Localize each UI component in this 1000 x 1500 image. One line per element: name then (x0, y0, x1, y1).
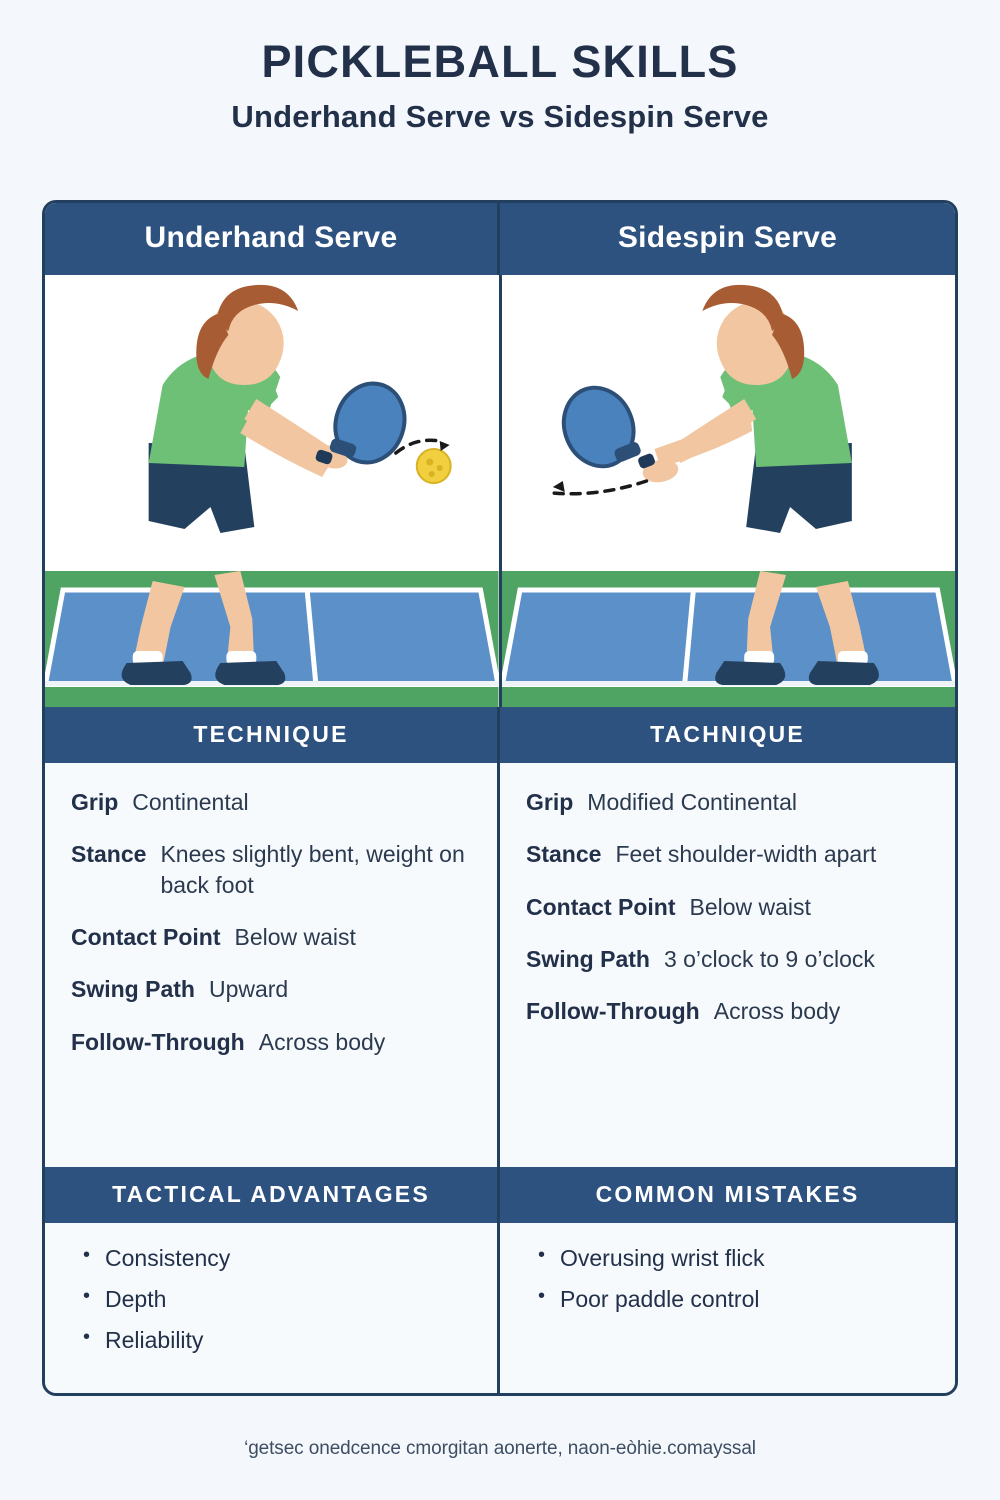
column-title-underhand: Underhand Serve (45, 203, 500, 275)
spec-row: Swing Path Upward (71, 974, 471, 1004)
spec-row: Stance Knees slightly bent, weight on ba… (71, 839, 471, 900)
technique-specs-row: Grip Continental Stance Knees slightly b… (45, 763, 955, 1167)
tactical-advantages-list: Consistency Depth Reliability (45, 1223, 500, 1393)
spec-value: Knees slightly bent, weight on back foot (160, 839, 471, 900)
spec-label: Grip (71, 787, 132, 817)
title-block: PICKLEBALL SKILLS Underhand Serve vs Sid… (0, 0, 1000, 135)
infographic-page: PICKLEBALL SKILLS Underhand Serve vs Sid… (0, 0, 1000, 1500)
spec-row: Grip Continental (71, 787, 471, 817)
spec-value: Across body (714, 996, 929, 1026)
spec-label: Follow-Through (71, 1027, 259, 1057)
technique-header-left: TECHNIQUE (45, 707, 500, 763)
spec-label: Follow-Through (526, 996, 714, 1026)
list-item: Reliability (83, 1327, 467, 1354)
spec-value: Below waist (690, 892, 930, 922)
spec-row: Follow-Through Across body (71, 1027, 471, 1057)
comparison-card: Underhand Serve Sidespin Serve (42, 200, 958, 1396)
common-mistakes-list: Overusing wrist flick Poor paddle contro… (500, 1223, 955, 1393)
spec-row: Swing Path 3 o’clock to 9 o’clock (526, 944, 929, 974)
technique-band: TECHNIQUE TACHNIQUE (45, 707, 955, 763)
illustration-row (45, 275, 955, 707)
spec-row: Stance Feet shoulder-width apart (526, 839, 929, 869)
technique-specs-left: Grip Continental Stance Knees slightly b… (45, 763, 500, 1167)
spec-value: Continental (132, 787, 471, 817)
spec-row: Contact Point Below waist (71, 922, 471, 952)
list-item: Consistency (83, 1245, 467, 1272)
spec-row: Follow-Through Across body (526, 996, 929, 1026)
spec-label: Grip (526, 787, 587, 817)
list-item: Poor paddle control (538, 1286, 925, 1313)
sidespin-serve-illustration (502, 275, 956, 707)
list-header-right: COMMON MISTAKES (500, 1167, 955, 1223)
page-title: PICKLEBALL SKILLS (0, 38, 1000, 85)
footer-text: ‘getsec onedcence cmorgitan aonerte, nao… (0, 1438, 1000, 1460)
spec-label: Swing Path (71, 974, 209, 1004)
spec-value: Feet shoulder-width apart (615, 839, 929, 869)
spec-label: Swing Path (526, 944, 664, 974)
spec-label: Contact Point (71, 922, 235, 952)
list-item: Overusing wrist flick (538, 1245, 925, 1272)
spec-value: 3 o’clock to 9 o’clock (664, 944, 929, 974)
spec-label: Contact Point (526, 892, 690, 922)
page-subtitle: Underhand Serve vs Sidespin Serve (0, 99, 1000, 135)
column-title-band: Underhand Serve Sidespin Serve (45, 203, 955, 275)
technique-specs-right: Grip Modified Continental Stance Feet sh… (500, 763, 955, 1167)
list-header-left: TACTICAL ADVANTAGES (45, 1167, 500, 1223)
spec-row: Contact Point Below waist (526, 892, 929, 922)
spec-value: Across body (259, 1027, 471, 1057)
spec-label: Stance (526, 839, 615, 869)
bullet-row: Consistency Depth Reliability Overusing … (45, 1223, 955, 1393)
list-header-band: TACTICAL ADVANTAGES COMMON MISTAKES (45, 1167, 955, 1223)
spec-value: Modified Continental (587, 787, 929, 817)
spec-label: Stance (71, 839, 160, 869)
spec-value: Upward (209, 974, 471, 1004)
technique-header-right: TACHNIQUE (500, 707, 955, 763)
list-item: Depth (83, 1286, 467, 1313)
underhand-serve-illustration (45, 275, 502, 707)
column-title-sidespin: Sidespin Serve (500, 203, 955, 275)
ball-left (417, 449, 451, 483)
spec-row: Grip Modified Continental (526, 787, 929, 817)
spec-value: Below waist (235, 922, 472, 952)
